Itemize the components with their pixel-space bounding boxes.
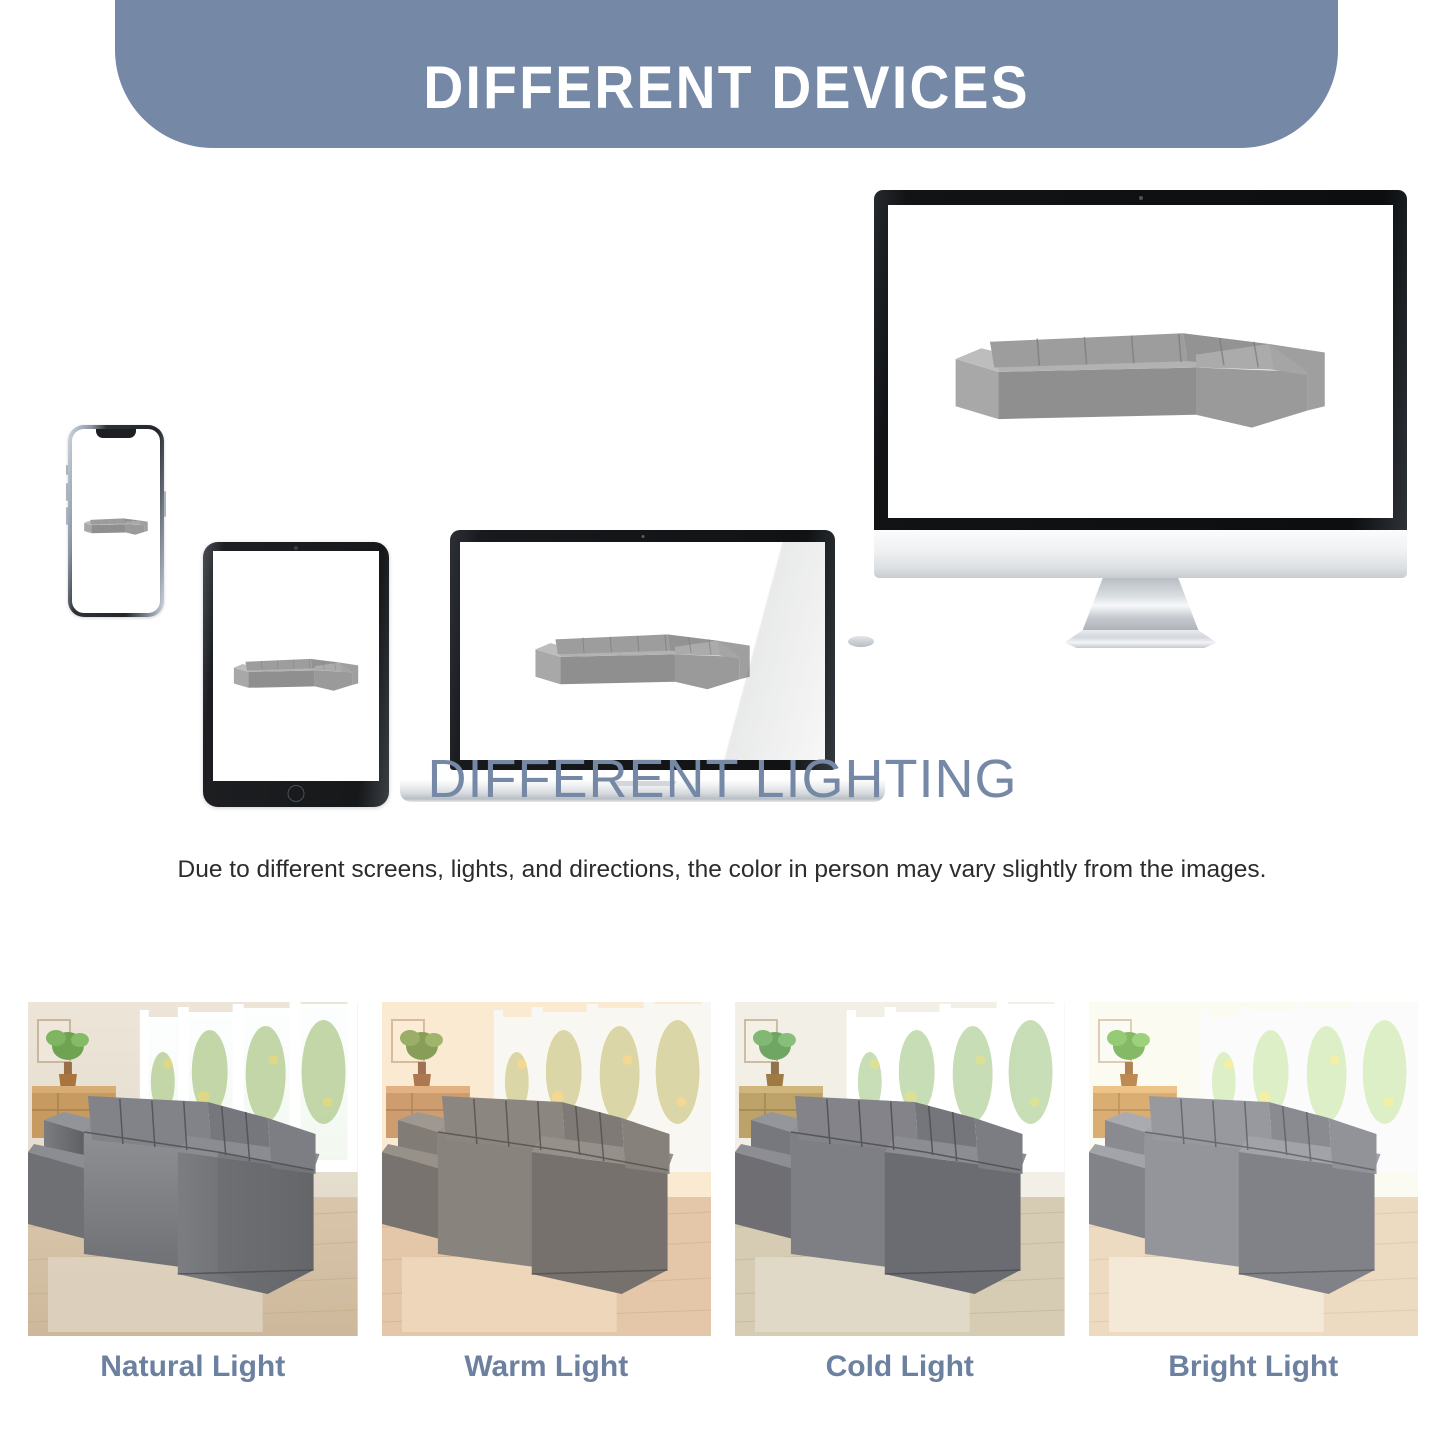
lighting-labels-row: Natural Light Warm Light Cold Light Brig… (28, 1350, 1418, 1384)
sofa-image-tablet (223, 643, 369, 694)
lighting-photo-cell-bright (1089, 1002, 1419, 1336)
laptop-camera (641, 535, 644, 538)
monitor-stand-base (1065, 630, 1217, 648)
tablet-camera (294, 546, 298, 550)
page-title: DIFFERENT DEVICES (423, 53, 1029, 122)
monitor-stand-neck (1082, 578, 1200, 633)
lighting-label-bright: Bright Light (1089, 1350, 1419, 1384)
tablet-screen (213, 551, 379, 781)
room-photo-cold (735, 1002, 1065, 1336)
room-photo-warm (382, 1002, 712, 1336)
laptop-screen (460, 542, 825, 760)
header-banner: DIFFERENT DEVICES (115, 0, 1338, 148)
phone-volume-down-button (66, 507, 68, 525)
monitor-screen (888, 205, 1393, 518)
device-desktop-monitor (868, 190, 1413, 655)
device-smartphone (68, 425, 164, 617)
lighting-photo-cell-natural (28, 1002, 358, 1336)
lighting-disclaimer-text: Due to different screens, lights, and di… (172, 843, 1272, 897)
device-mockups-row (0, 175, 1445, 655)
lighting-photo-row (28, 1002, 1418, 1336)
lighting-label-cold: Cold Light (735, 1350, 1065, 1384)
sofa-image-monitor (918, 286, 1362, 436)
lighting-label-warm: Warm Light (382, 1350, 712, 1384)
phone-notch (96, 429, 136, 438)
monitor-mouse (848, 636, 874, 647)
laptop-lid (450, 530, 835, 770)
lighting-photo-cell-cold (735, 1002, 1065, 1336)
room-photo-bright (1089, 1002, 1419, 1336)
monitor-camera (1139, 196, 1143, 200)
phone-screen (72, 429, 160, 613)
monitor-chin (874, 530, 1407, 578)
sofa-image-laptop (482, 607, 803, 694)
lighting-label-natural: Natural Light (28, 1350, 358, 1384)
phone-mute-switch (66, 465, 68, 475)
lighting-photo-cell-warm (382, 1002, 712, 1336)
phone-volume-up-button (66, 483, 68, 501)
room-photo-natural (28, 1002, 358, 1336)
monitor-panel (874, 190, 1407, 530)
lighting-section-title: DIFFERENT LIGHTING (0, 748, 1445, 810)
phone-power-button (164, 491, 166, 517)
sofa-image-phone (79, 503, 153, 543)
